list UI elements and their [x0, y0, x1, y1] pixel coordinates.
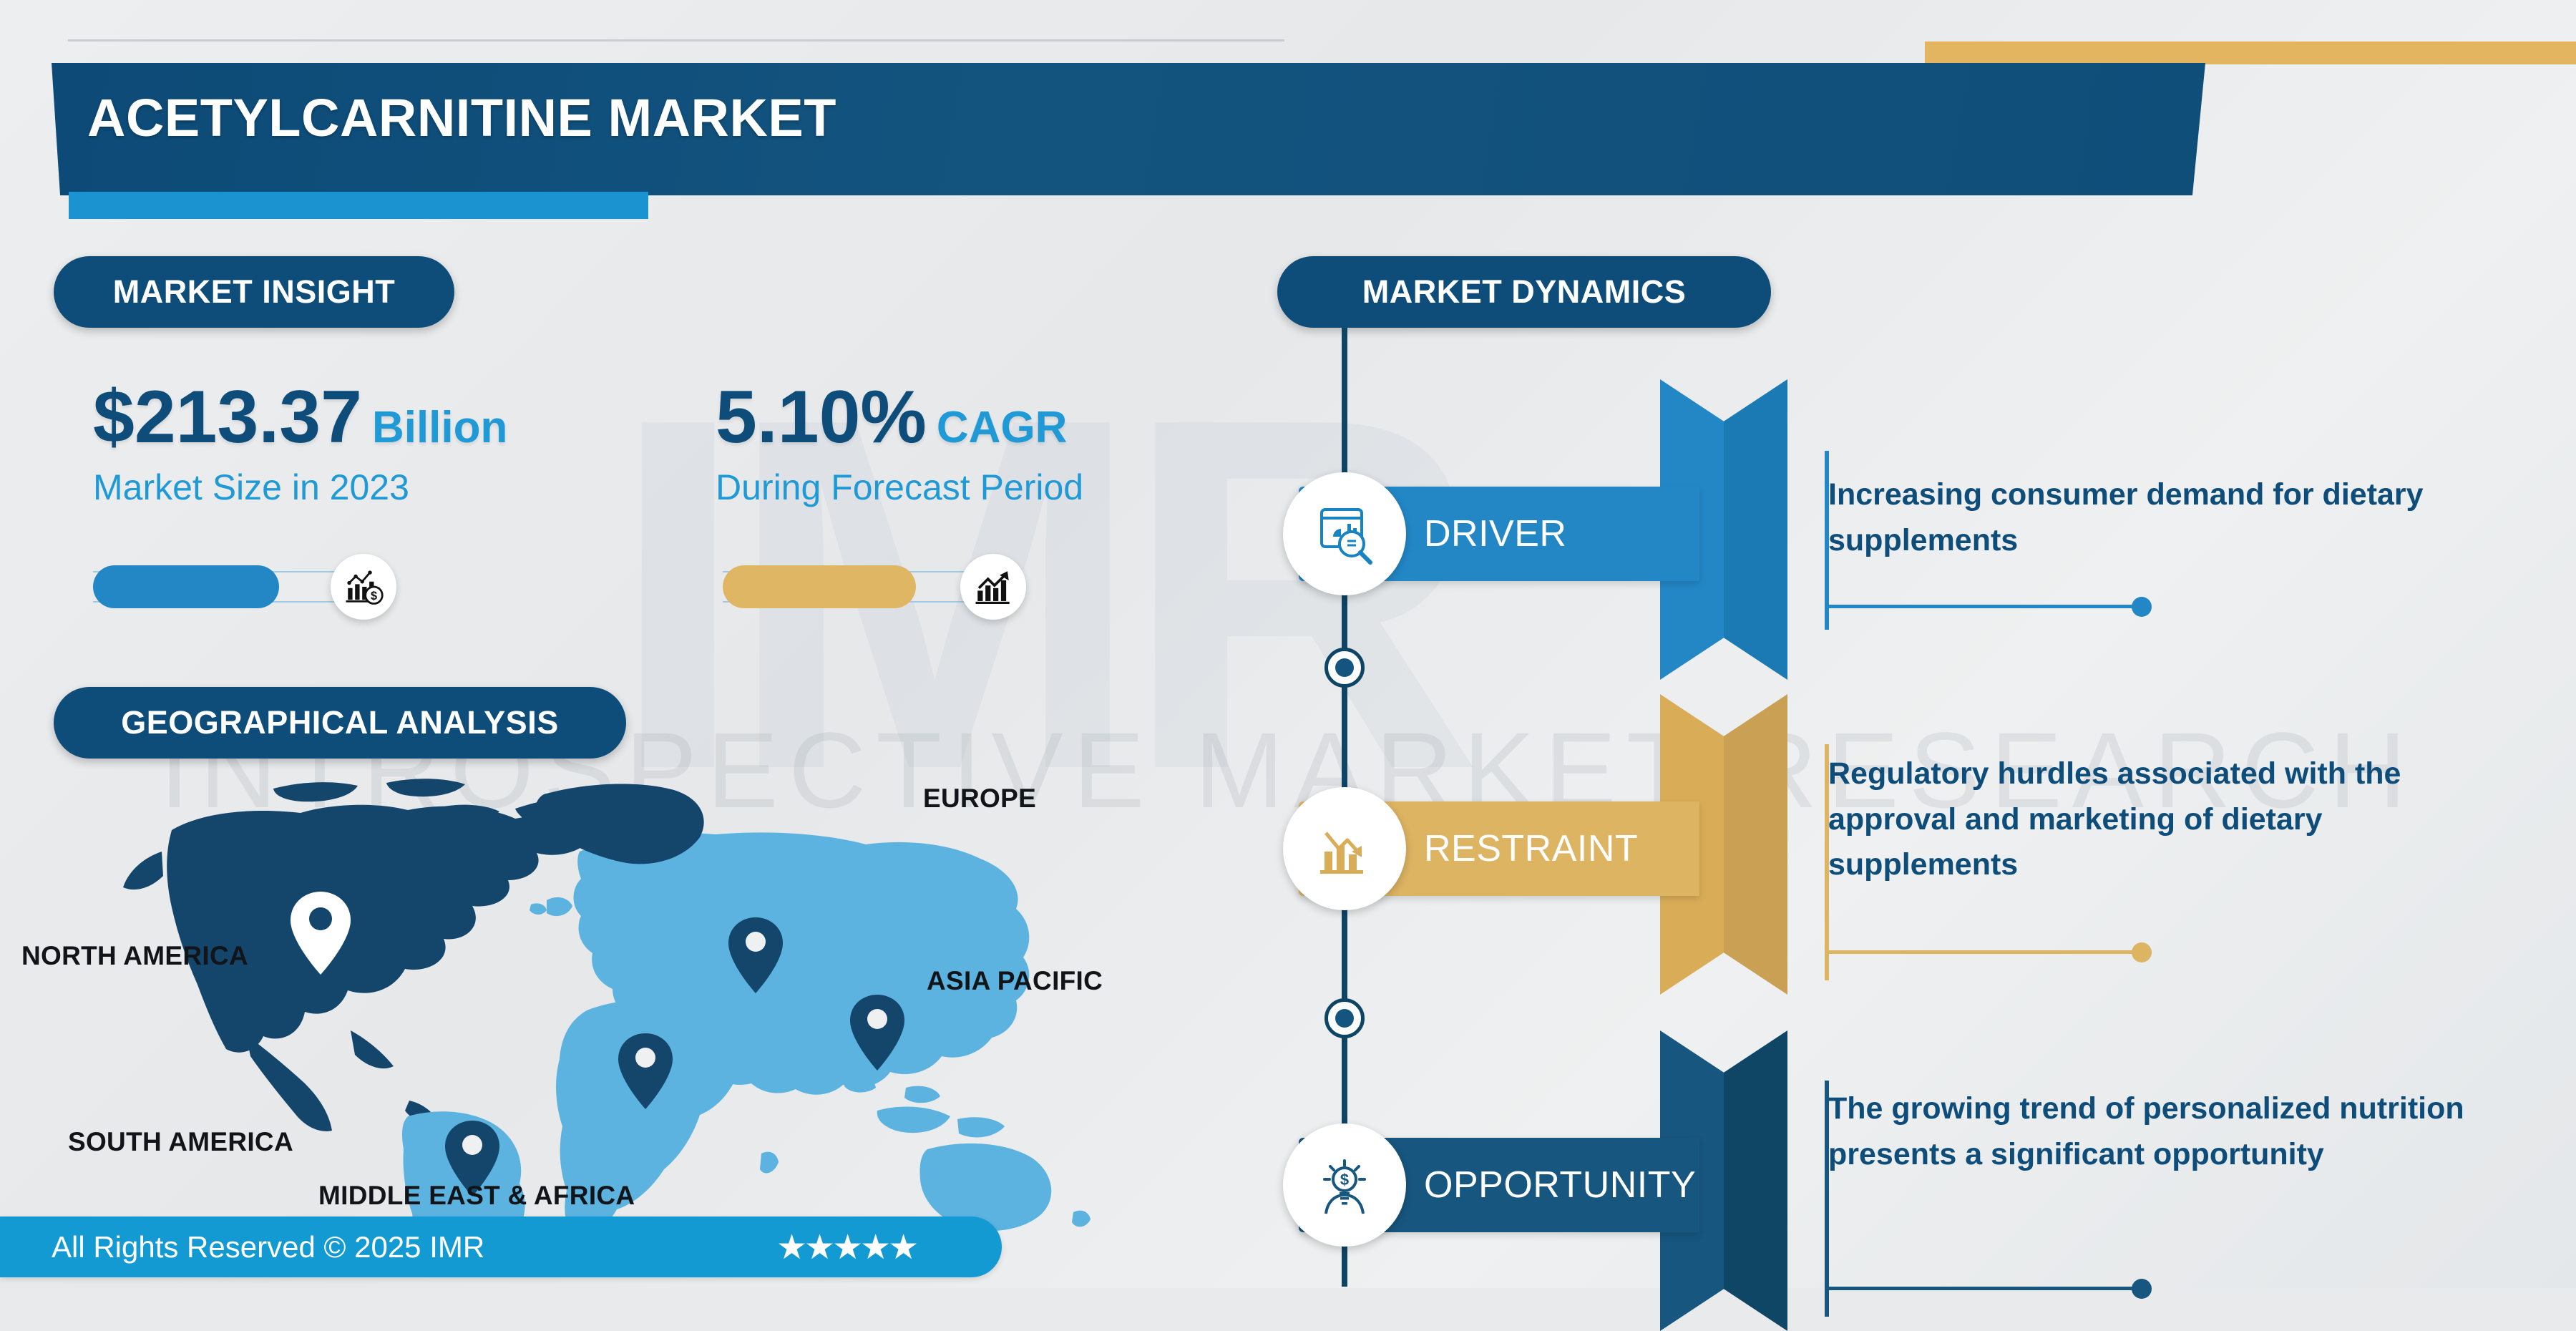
market-size-caption: Market Size in 2023	[93, 467, 507, 508]
opportunity-tag-label: OPPORTUNITY	[1424, 1164, 1696, 1206]
map-label-south-america: SOUTH AMERICA	[68, 1127, 293, 1157]
timeline-node-2	[1324, 998, 1365, 1038]
market-dynamics-panel: DRIVER Increasing consumer demand for di…	[1259, 315, 2576, 1288]
driver-description-text: Increasing consumer demand for dietary s…	[1828, 472, 2515, 563]
market-size-progress: $	[93, 565, 343, 608]
map-label-asia-pacific: ASIA PACIFIC	[927, 966, 1103, 996]
restraint-description-text: Regulatory hurdles associated with the a…	[1828, 751, 2515, 888]
map-label-north-america: NORTH AMERICA	[21, 941, 248, 971]
copyright-text: All Rights Reserved © 2025 IMR	[52, 1230, 484, 1264]
cagr-progress	[723, 565, 973, 608]
svg-text:$: $	[371, 590, 377, 603]
footer-bar: All Rights Reserved © 2025 IMR ★★★★★	[0, 1217, 1002, 1277]
opportunity-underline	[1828, 1287, 2143, 1290]
opportunity-description: The growing trend of personalized nutrit…	[1828, 1086, 2515, 1177]
opportunity-tag-bar[interactable]: $ OPPORTUNITY	[1299, 1138, 1699, 1232]
cagr-unit: CAGR	[927, 403, 1068, 452]
rating-stars: ★★★★★	[776, 1227, 916, 1267]
svg-text:$: $	[1340, 1171, 1349, 1189]
stat-cagr: 5.10%CAGR During Forecast Period	[716, 379, 1083, 508]
map-europe-africa-asia	[530, 832, 1098, 1231]
bar-chart-dollar-icon: $	[331, 554, 396, 620]
infographic-canvas: IMR INTROSPECTIVE MARKET RESEARCH ACETYL…	[0, 0, 2576, 1288]
restraint-tag-label: RESTRAINT	[1424, 827, 1638, 870]
market-size-value-row: $213.37Billion	[93, 379, 507, 455]
market-insight-heading: MARKET INSIGHT	[54, 256, 454, 328]
restraint-tag-bar[interactable]: RESTRAINT	[1299, 801, 1699, 896]
map-label-middle-east-africa: MIDDLE EAST & AFRICA	[318, 1181, 635, 1211]
cagr-caption: During Forecast Period	[716, 467, 1083, 508]
world-map: NORTH AMERICA SOUTH AMERICA EUROPE ASIA …	[86, 744, 1159, 1231]
lightbulb-dollar-icon: $	[1283, 1123, 1406, 1247]
market-size-progress-fill	[93, 565, 279, 608]
header-thin-rule	[68, 39, 1284, 42]
driver-underline	[1828, 605, 2143, 608]
driver-tag-label: DRIVER	[1424, 512, 1566, 555]
page-title: ACETYLCARNITINE MARKET	[87, 87, 836, 148]
timeline-node-1	[1324, 648, 1365, 688]
cagr-value-row: 5.10%CAGR	[716, 379, 1083, 455]
market-size-unit: Billion	[362, 403, 507, 452]
stat-market-size: $213.37Billion Market Size in 2023	[93, 379, 507, 508]
restraint-underline	[1828, 950, 2143, 954]
restraint-description: Regulatory hurdles associated with the a…	[1828, 751, 2515, 888]
analytics-search-icon	[1283, 472, 1406, 595]
declining-bar-chart-icon	[1283, 787, 1406, 910]
cagr-value: 5.10%	[716, 376, 927, 459]
cagr-progress-fill	[723, 565, 916, 608]
header-gold-accent	[1925, 42, 2576, 64]
header-underbar-accent	[69, 192, 648, 219]
driver-tag-bar[interactable]: DRIVER	[1299, 487, 1699, 581]
header-banner: ACETYLCARNITINE MARKET	[0, 0, 2576, 215]
map-label-europe: EUROPE	[923, 784, 1036, 814]
market-size-value: $213.37	[93, 376, 362, 459]
opportunity-description-text: The growing trend of personalized nutrit…	[1828, 1086, 2515, 1177]
driver-description: Increasing consumer demand for dietary s…	[1828, 472, 2515, 563]
growth-arrow-chart-icon	[960, 554, 1026, 620]
